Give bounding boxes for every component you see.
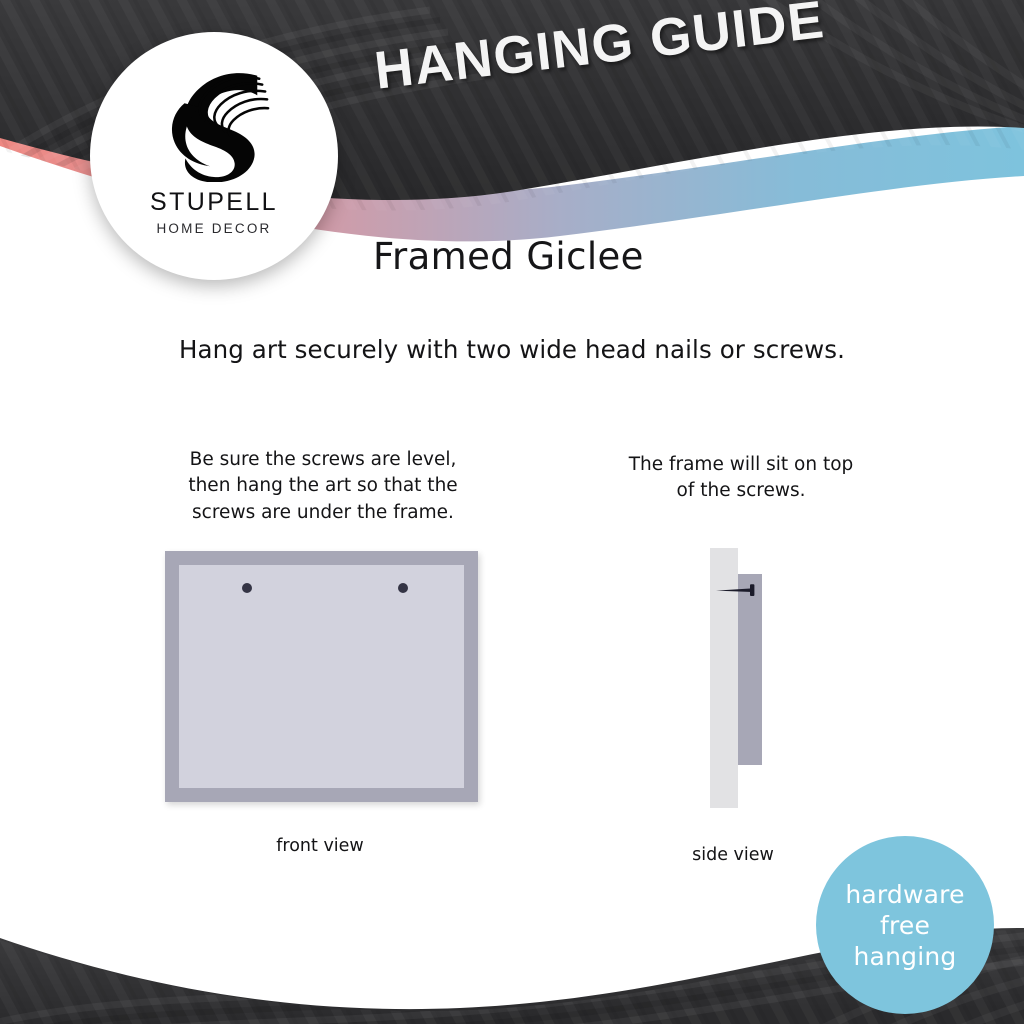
screw-dot-right — [398, 583, 408, 593]
side-view-caption-line-1: The frame will sit on top — [596, 452, 886, 478]
logo-wordmark: STUPELL — [150, 190, 278, 215]
badge-line-2: free — [880, 910, 930, 941]
side-view-frame — [738, 574, 762, 765]
side-view-caption: The frame will sit on top of the screws. — [596, 452, 886, 505]
page-title: HANGING GUIDE — [372, 0, 827, 98]
product-name: Framed Giclee — [373, 238, 644, 275]
stupell-swan-icon — [155, 60, 273, 182]
main-instruction: Hang art securely with two wide head nai… — [0, 338, 1024, 363]
screw-dot-left — [242, 583, 252, 593]
front-view-frame-diagram — [165, 551, 478, 802]
hanging-guide-page: STUPELL HOME DECOR HANGING GUIDE Framed … — [0, 0, 1024, 1024]
front-view-caption-line-3: screws are under the frame. — [158, 500, 488, 526]
hardware-free-hanging-badge: hardware free hanging — [816, 836, 994, 1014]
front-view-caption: Be sure the screws are level, then hang … — [158, 447, 488, 526]
front-view-label: front view — [160, 838, 480, 856]
brand-logo-badge: STUPELL HOME DECOR — [90, 32, 338, 280]
side-view-caption-line-2: of the screws. — [596, 478, 886, 504]
nail-icon — [716, 583, 762, 597]
front-view-frame-mat — [179, 565, 464, 788]
logo-tagline: HOME DECOR — [156, 222, 271, 236]
front-view-caption-line-1: Be sure the screws are level, — [158, 447, 488, 473]
side-view-label: side view — [635, 847, 831, 865]
badge-line-1: hardware — [845, 879, 964, 910]
badge-line-3: hanging — [854, 941, 957, 972]
front-view-caption-line-2: then hang the art so that the — [158, 473, 488, 499]
